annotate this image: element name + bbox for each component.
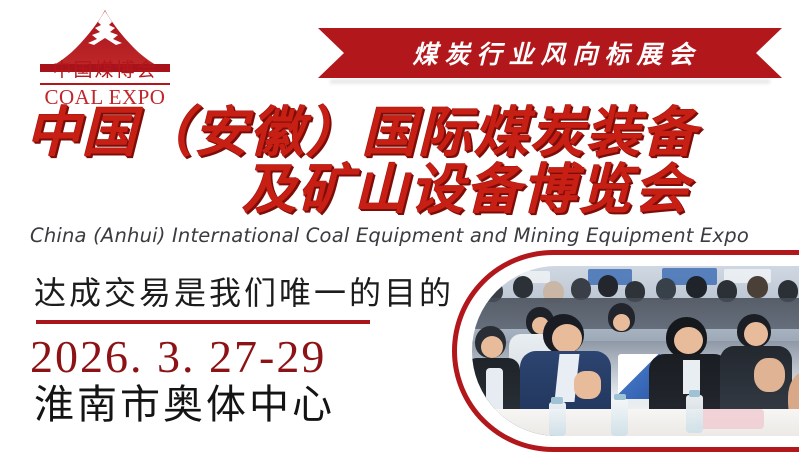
photo-person-b5 [598, 275, 618, 297]
photo-bottle-cap-1 [551, 397, 563, 404]
photo-bottle-1 [549, 402, 566, 436]
audience-photo [472, 266, 799, 436]
ribbon-label: 煤炭行业风向标展会 [318, 28, 782, 78]
tagline-ribbon: 煤炭行业风向标展会 [318, 28, 782, 78]
photo-child-f5 [754, 358, 785, 392]
photo-hands-f2 [574, 371, 601, 398]
photo-bottle-cap-2 [614, 394, 626, 401]
english-subtitle: China (Anhui) International Coal Equipme… [30, 224, 790, 247]
slogan-text: 达成交易是我们唯一的目的 [34, 274, 454, 312]
coal-expo-logo: 中国煤博会 COAL EXPO [30, 8, 180, 106]
photo-person-b10 [747, 276, 767, 298]
poster-canvas: 中国煤博会 COAL EXPO 煤炭行业风向标展会 中国（安徽）国际煤炭装备 及… [0, 0, 799, 464]
photo-person-b4 [571, 278, 591, 300]
photo-bottle-3 [686, 395, 703, 432]
ribbon-shadow [330, 80, 770, 85]
photo-tablecloth [696, 409, 764, 429]
photo-face-f4 [744, 322, 768, 346]
slogan-underline [36, 320, 370, 324]
photo-shirt-f3 [683, 360, 700, 394]
photo-bottle-cap-3 [689, 390, 701, 397]
logo-chinese-name: 中国煤博会 [42, 60, 168, 82]
event-venue: 淮南市奥体中心 [34, 382, 335, 428]
audience-photo-content [472, 266, 799, 436]
photo-face-f1 [481, 336, 503, 358]
photo-person-b8 [686, 276, 706, 298]
event-date: 2026. 3. 27-29 [30, 330, 326, 384]
photo-face-f2 [552, 324, 583, 353]
photo-person-b2 [513, 276, 533, 298]
photo-person-b7 [656, 278, 676, 300]
photo-face-m2 [613, 314, 630, 331]
photo-bottle-2 [611, 399, 628, 436]
title-line-2: 及矿山设备博览会 [0, 161, 799, 218]
main-title: 中国（安徽）国际煤炭装备 及矿山设备博览会 [0, 104, 799, 218]
title-line-1: 中国（安徽）国际煤炭装备 [0, 104, 799, 161]
